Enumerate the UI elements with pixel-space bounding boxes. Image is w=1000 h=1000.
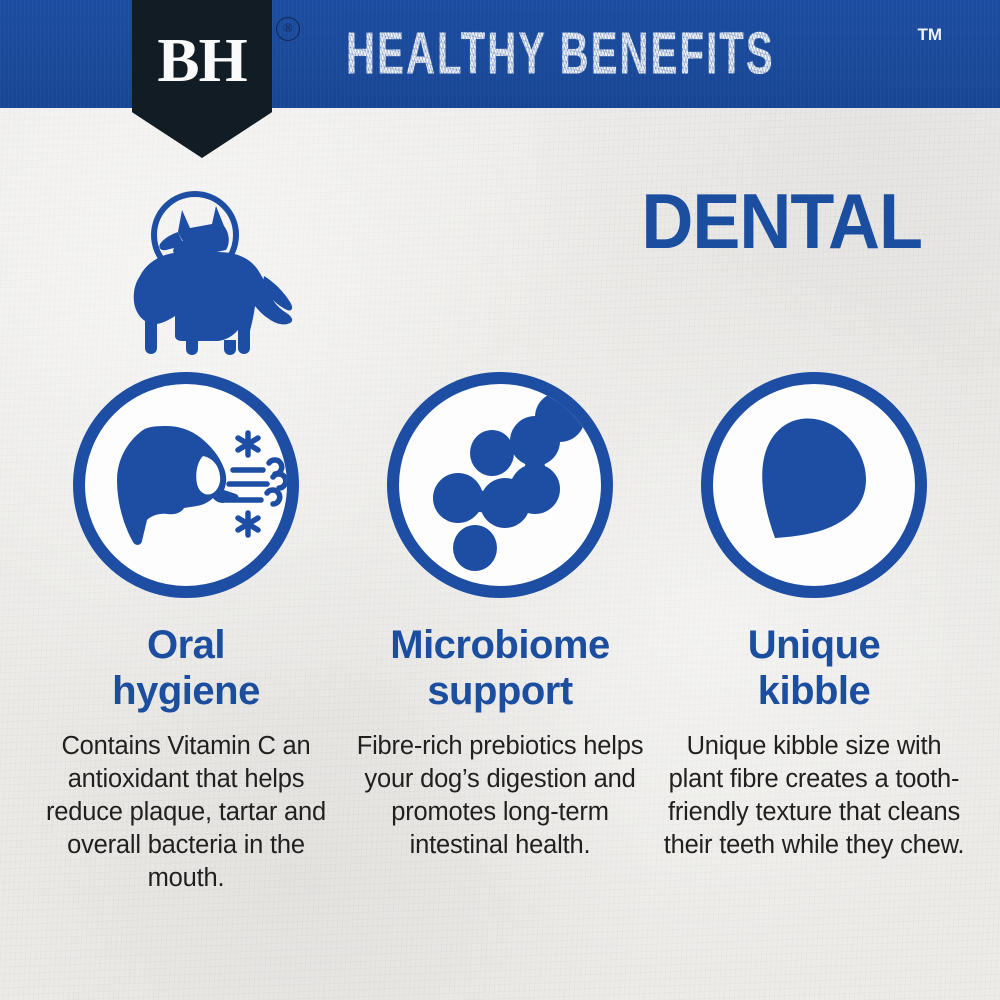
benefit-heading: Microbiome support bbox=[344, 622, 656, 714]
benefit-body: Contains Vitamin C an antioxidant that h… bbox=[36, 730, 336, 895]
benefit-column-oral-hygiene: Oral hygiene Contains Vitamin C an antio… bbox=[30, 372, 342, 895]
registered-trademark-icon: ® bbox=[276, 17, 300, 41]
page-title: HEALTHY BENEFITS bbox=[346, 20, 775, 88]
benefit-heading: Oral hygiene bbox=[30, 622, 342, 714]
benefit-column-microbiome-support: Microbiome support Fibre-rich prebiotics… bbox=[344, 372, 656, 862]
trademark-symbol: TM bbox=[917, 25, 942, 45]
benefit-heading: Unique kibble bbox=[658, 622, 970, 714]
microbiome-bacteria-cells-icon bbox=[387, 372, 613, 598]
benefits-row: Oral hygiene Contains Vitamin C an antio… bbox=[0, 372, 1000, 932]
brand-logo-text: BH bbox=[131, 26, 274, 97]
healthy-benefits-panel: HEALTHY BENEFITS TM BH ® DENTAL bbox=[0, 0, 1000, 1000]
benefit-body: Unique kibble size with plant fibre crea… bbox=[662, 730, 966, 862]
brand-logo-shield: BH bbox=[132, 0, 272, 158]
kibble-piece-icon bbox=[701, 372, 927, 598]
dog-head-fresh-breath-icon bbox=[73, 372, 299, 598]
section-title: DENTAL bbox=[641, 178, 922, 267]
standing-dog-with-head-circle-icon bbox=[78, 190, 298, 360]
benefit-body: Fibre-rich prebiotics helps your dog’s d… bbox=[355, 730, 645, 862]
benefit-column-unique-kibble: Unique kibble Unique kibble size with pl… bbox=[658, 372, 970, 862]
